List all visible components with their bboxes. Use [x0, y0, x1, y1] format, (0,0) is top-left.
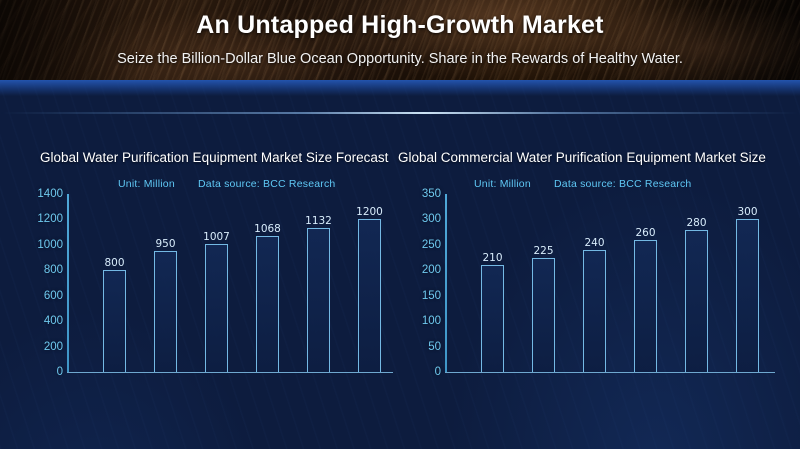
y-tick-label: 400: [19, 316, 63, 326]
unit-label-left: Unit: Million: [118, 178, 175, 190]
chart-panel-left: Global Water Purification Equipment Mark…: [18, 150, 398, 390]
chart-title-right: Global Commercial Water Purification Equ…: [398, 150, 766, 165]
bar-value-label: 210: [482, 252, 502, 264]
unit-label-right: Unit: Million: [474, 178, 531, 190]
bar-value-label: 280: [686, 217, 706, 229]
y-tick-label: 100: [397, 316, 441, 326]
bar: 225: [532, 258, 555, 372]
page-title: An Untapped High-Growth Market: [0, 11, 800, 40]
header-glow-band: [0, 80, 800, 96]
bar: 240: [583, 250, 606, 372]
bar-group-right: 210225240260280300: [445, 194, 775, 372]
bar: 260: [634, 240, 657, 372]
y-tick-label: 0: [397, 367, 441, 377]
bar-value-label: 950: [155, 238, 175, 250]
source-label-left: Data source: BCC Research: [198, 178, 335, 190]
y-axis-ticks-right: 050100150200250300350: [396, 194, 441, 372]
bar: 1007: [205, 244, 228, 372]
y-tick-label: 50: [397, 342, 441, 352]
bar-value-label: 240: [584, 237, 604, 249]
y-tick-label: 250: [397, 240, 441, 250]
y-tick-label: 200: [397, 265, 441, 275]
chart-title-left: Global Water Purification Equipment Mark…: [40, 150, 388, 165]
plot-area-right: 050100150200250300350 210225240260280300: [396, 194, 784, 374]
y-tick-label: 1400: [19, 189, 63, 199]
bar-value-label: 300: [737, 206, 757, 218]
divider-line: [0, 112, 800, 114]
x-axis-line-right: [445, 372, 775, 373]
bar-value-label: 1068: [254, 223, 281, 235]
y-tick-label: 0: [19, 367, 63, 377]
bar: 1132: [307, 228, 330, 372]
chart-panel-right: Global Commercial Water Purification Equ…: [396, 150, 784, 390]
y-tick-label: 800: [19, 265, 63, 275]
y-tick-label: 150: [397, 291, 441, 301]
bar-value-label: 260: [635, 227, 655, 239]
source-label-right: Data source: BCC Research: [554, 178, 691, 190]
bar: 300: [736, 219, 759, 372]
plot-area-left: 0200400600800100012001400 80095010071068…: [18, 194, 398, 374]
y-tick-label: 1200: [19, 214, 63, 224]
bar-value-label: 1007: [203, 231, 230, 243]
y-tick-label: 300: [397, 214, 441, 224]
bar-value-label: 1132: [305, 215, 332, 227]
bar-group-left: 8009501007106811321200: [67, 194, 397, 372]
bar-value-label: 1200: [356, 206, 383, 218]
chart-meta-left: Unit: Million Data source: BCC Research: [18, 178, 398, 192]
chart-meta-right: Unit: Million Data source: BCC Research: [396, 178, 784, 192]
bar: 280: [685, 230, 708, 372]
y-tick-label: 200: [19, 342, 63, 352]
y-axis-ticks-left: 0200400600800100012001400: [18, 194, 63, 372]
bar: 1068: [256, 236, 279, 372]
page-subtitle: Seize the Billion-Dollar Blue Ocean Oppo…: [0, 51, 800, 67]
bar: 210: [481, 265, 504, 372]
x-axis-line-left: [67, 372, 393, 373]
bar: 950: [154, 251, 177, 372]
bar: 1200: [358, 219, 381, 372]
bar-value-label: 800: [104, 257, 124, 269]
bar-value-label: 225: [533, 245, 553, 257]
slide-root: An Untapped High-Growth Market Seize the…: [0, 0, 800, 449]
bar: 800: [103, 270, 126, 372]
y-tick-label: 1000: [19, 240, 63, 250]
y-tick-label: 600: [19, 291, 63, 301]
y-tick-label: 350: [397, 189, 441, 199]
